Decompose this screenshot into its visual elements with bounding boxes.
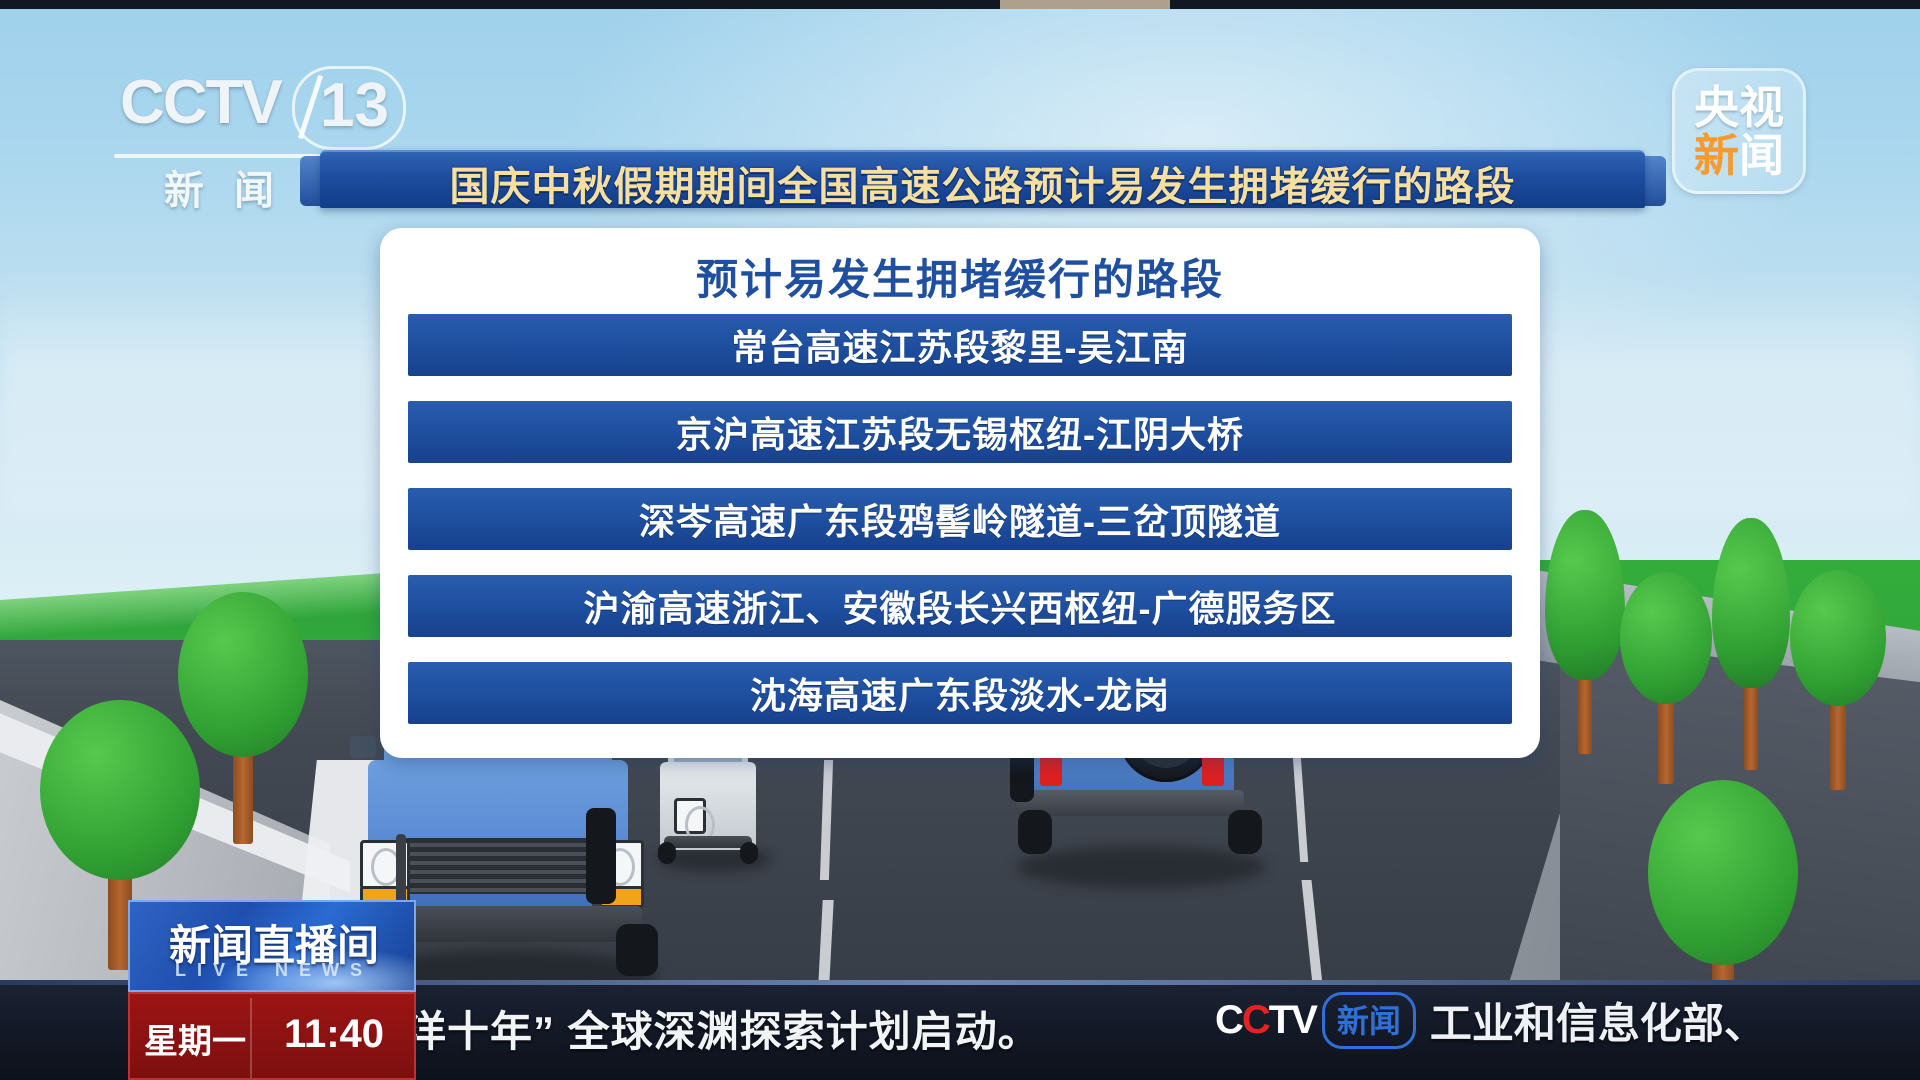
ticker-right-text: 工业和信息化部、: [1430, 990, 1766, 1051]
title-banner: 国庆中秋假期期间全国高速公路预计易发生拥堵缓行的路段: [320, 150, 1645, 208]
watermark-line-1: 央视: [1675, 85, 1803, 130]
watermark-char-orange: 新: [1694, 130, 1739, 181]
ticker-right-group: CCTV 新闻 工业和信息化部、: [1215, 990, 1766, 1051]
list-item: 京沪高速江苏段无锡枢纽-江阴大桥: [408, 401, 1512, 463]
cctv-news-logo-c2: C: [1242, 998, 1269, 1043]
watermark-char-white: 闻: [1739, 130, 1784, 181]
car-wheel: [1228, 810, 1262, 854]
broadcast-screen: CCTV 13 新闻 央视 新闻 国庆中秋假期期间全国高速公路预计易发生拥堵缓行…: [0, 0, 1920, 1080]
program-subtitle: LIVE NEWS: [130, 960, 416, 981]
ticker-headline: 洋十年” 全球深渊探索计划启动。: [404, 998, 1041, 1059]
program-bug-top: 新闻直播间 LIVE NEWS: [128, 900, 416, 992]
car-wheel: [586, 808, 616, 904]
car-wheel: [1018, 810, 1052, 854]
car-grille: [404, 838, 590, 894]
list-item-label: 常台高速江苏段黎里-吴江南: [732, 319, 1189, 371]
panel-heading: 预计易发生拥堵缓行的路段: [380, 246, 1540, 307]
car-bumper: [664, 836, 752, 848]
list-item-label: 深岑高速广东段鸦髻岭隧道-三岔顶隧道: [639, 493, 1281, 545]
side-mirror: [350, 736, 376, 758]
list-item-label: 沈海高速广东段淡水-龙岗: [750, 667, 1170, 719]
list-item: 深岑高速广东段鸦髻岭隧道-三岔顶隧道: [408, 488, 1512, 550]
info-panel: 预计易发生拥堵缓行的路段 常台高速江苏段黎里-吴江南 京沪高速江苏段无锡枢纽-江…: [380, 228, 1540, 758]
list-item: 沪渝高速浙江、安徽段长兴西枢纽-广德服务区: [408, 575, 1512, 637]
program-bug-clock: 星期一 11:40: [128, 992, 416, 1080]
top-letterbox: [0, 0, 1920, 9]
banner-title: 国庆中秋假期期间全国高速公路预计易发生拥堵缓行的路段: [320, 154, 1645, 212]
cctv-news-logo: CCTV 新闻: [1215, 992, 1416, 1049]
tree: [1620, 572, 1712, 782]
car-wheel: [740, 842, 758, 864]
car-white: [660, 762, 770, 872]
congestion-list: 常台高速江苏段黎里-吴江南 京沪高速江苏段无锡枢纽-江阴大桥 深岑高速广东段鸦髻…: [408, 314, 1512, 749]
top-letterbox-highlight: [1000, 0, 1170, 9]
cctv-news-logo-c1: C: [1215, 998, 1242, 1043]
cctv-news-logo-label: 新闻: [1322, 992, 1416, 1049]
watermark-line-2: 新闻: [1675, 133, 1803, 178]
car-bumper: [1016, 790, 1244, 816]
tree: [1790, 570, 1886, 790]
list-item: 常台高速江苏段黎里-吴江南: [408, 314, 1512, 376]
car-wheel: [616, 924, 658, 976]
cctv-logo-subtitle: 新闻: [164, 158, 304, 216]
list-item-label: 沪渝高速浙江、安徽段长兴西枢纽-广德服务区: [584, 580, 1337, 632]
cctv-news-logo-tv: TV: [1269, 998, 1316, 1043]
tree: [1712, 518, 1790, 768]
clock-time: 11:40: [254, 1012, 414, 1057]
tree: [1545, 510, 1625, 750]
weekday-label: 星期一: [140, 1014, 250, 1063]
cctv-logo-number: 13: [320, 70, 389, 141]
headlight-icon: [674, 798, 706, 834]
cctv-news-app-watermark: 央视 新闻: [1672, 68, 1806, 194]
list-item: 沈海高速广东段淡水-龙岗: [408, 662, 1512, 724]
clock-divider: [250, 998, 252, 1078]
program-bug: 新闻直播间 LIVE NEWS 星期一 11:40: [128, 900, 416, 1080]
list-item-label: 京沪高速江苏段无锡枢纽-江阴大桥: [676, 406, 1244, 458]
